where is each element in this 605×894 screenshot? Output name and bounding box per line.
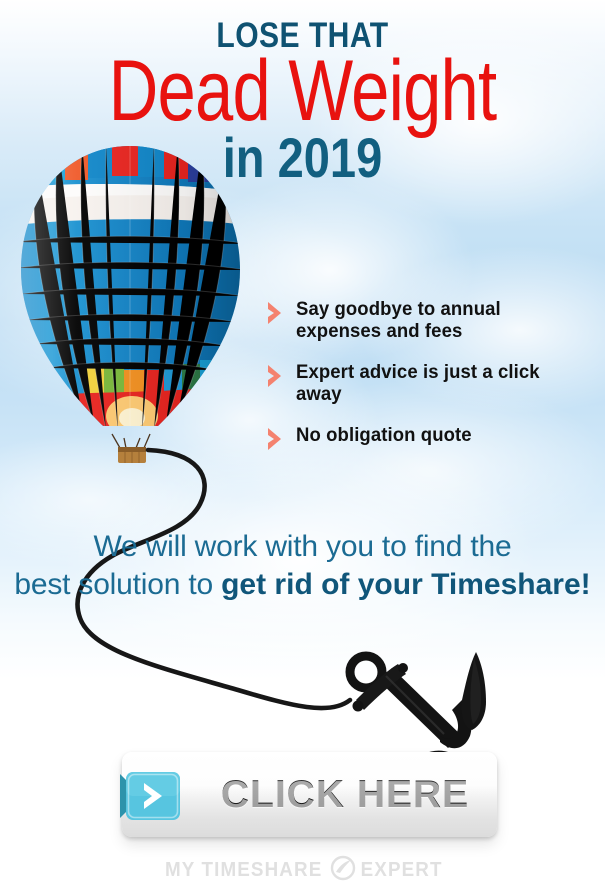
headline-main: Dead Weight <box>61 55 545 129</box>
hot-air-balloon-image <box>8 142 253 472</box>
brand-logo-text-left: MY TIMESHARE <box>165 859 322 882</box>
headline-year: in 2019 <box>48 130 556 186</box>
tagline-line-1: We will work with you to find the <box>93 530 511 563</box>
circle-swoosh-logo-icon <box>330 855 356 886</box>
click-here-label: CLICK HERE <box>200 752 490 837</box>
list-item-label: Expert advice is just a click away <box>296 361 572 405</box>
tagline-line-2-emphasis: get rid of your Timeshare! <box>221 568 591 601</box>
tagline: We will work with you to find the best s… <box>0 528 605 605</box>
chevron-right-icon <box>266 426 286 452</box>
ribbon-chevron-badge[interactable] <box>118 760 186 828</box>
brand-logo: MY TIMESHARE EXPERT <box>0 855 605 886</box>
brand-logo-text-right: EXPERT <box>360 859 442 882</box>
list-item: No obligation quote <box>266 424 586 452</box>
benefits-list: Say goodbye to annual expenses and fees … <box>266 298 586 471</box>
list-item: Say goodbye to annual expenses and fees <box>266 298 586 342</box>
chevron-right-icon <box>266 363 286 389</box>
click-here-button[interactable]: CLICK HERE <box>122 752 497 837</box>
list-item-label: No obligation quote <box>296 424 472 446</box>
list-item-label: Say goodbye to annual expenses and fees <box>296 298 572 342</box>
list-item: Expert advice is just a click away <box>266 361 586 405</box>
chevron-right-icon <box>266 300 286 326</box>
tagline-line-2-plain: best solution to <box>14 568 221 601</box>
advertisement-banner: LOSE THAT Dead Weight in 2019 <box>0 0 605 894</box>
tagline-line-2: best solution to get rid of your Timesha… <box>0 566 605 604</box>
headline-block: LOSE THAT Dead Weight in 2019 <box>0 0 605 186</box>
